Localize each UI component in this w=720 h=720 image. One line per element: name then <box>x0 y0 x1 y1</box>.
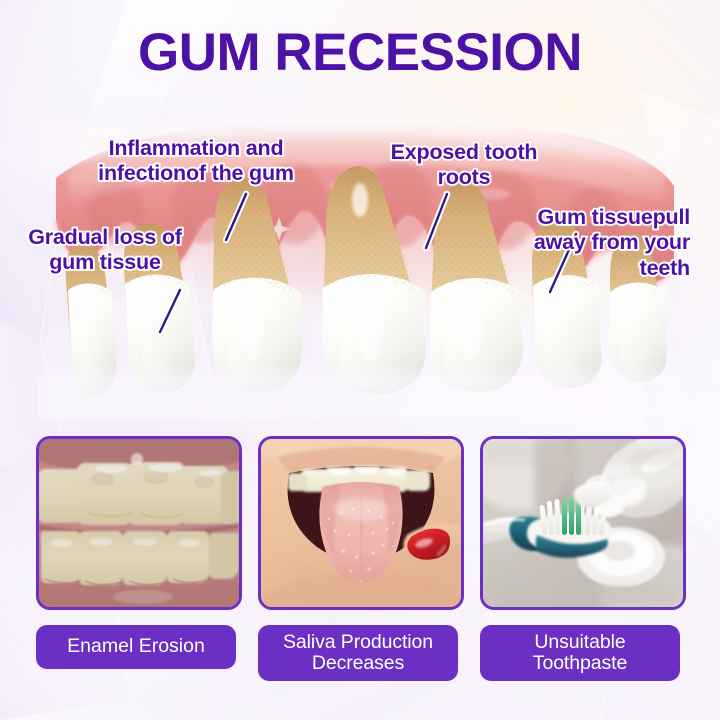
card-unsuitable-toothpaste[interactable]: Unsuitable Toothpaste <box>480 436 686 681</box>
photo-frame-saliva-production <box>258 436 464 610</box>
toothbrush-toothpaste-photo <box>483 439 683 607</box>
callout-gradual-loss: Gradual loss of gum tissue <box>10 225 200 276</box>
card-saliva-production[interactable]: Saliva Production Decreases <box>258 436 464 681</box>
card-label-enamel-erosion: Enamel Erosion <box>36 625 236 669</box>
gum-recession-infographic: GUM RECESSION <box>0 0 720 720</box>
page-title: GUM RECESSION <box>0 26 720 79</box>
callout-gum-tissue-pull: Gum tissuepull away from your teeth <box>490 205 690 281</box>
callout-exposed-tooth-roots: Exposed tooth roots <box>384 140 544 191</box>
close-up-teeth-enamel-erosion-photo <box>39 439 239 607</box>
card-label-saliva-production: Saliva Production Decreases <box>258 625 458 681</box>
card-label-unsuitable-toothpaste: Unsuitable Toothpaste <box>480 625 680 681</box>
photo-frame-enamel-erosion <box>36 436 242 610</box>
photo-frame-unsuitable-toothpaste <box>480 436 686 610</box>
card-enamel-erosion[interactable]: Enamel Erosion <box>36 436 242 669</box>
open-mouth-tongue-photo <box>261 439 461 607</box>
cause-cards: Enamel Erosion <box>0 436 720 720</box>
callout-inflammation: Inflammation and infectionof the gum <box>60 136 332 187</box>
